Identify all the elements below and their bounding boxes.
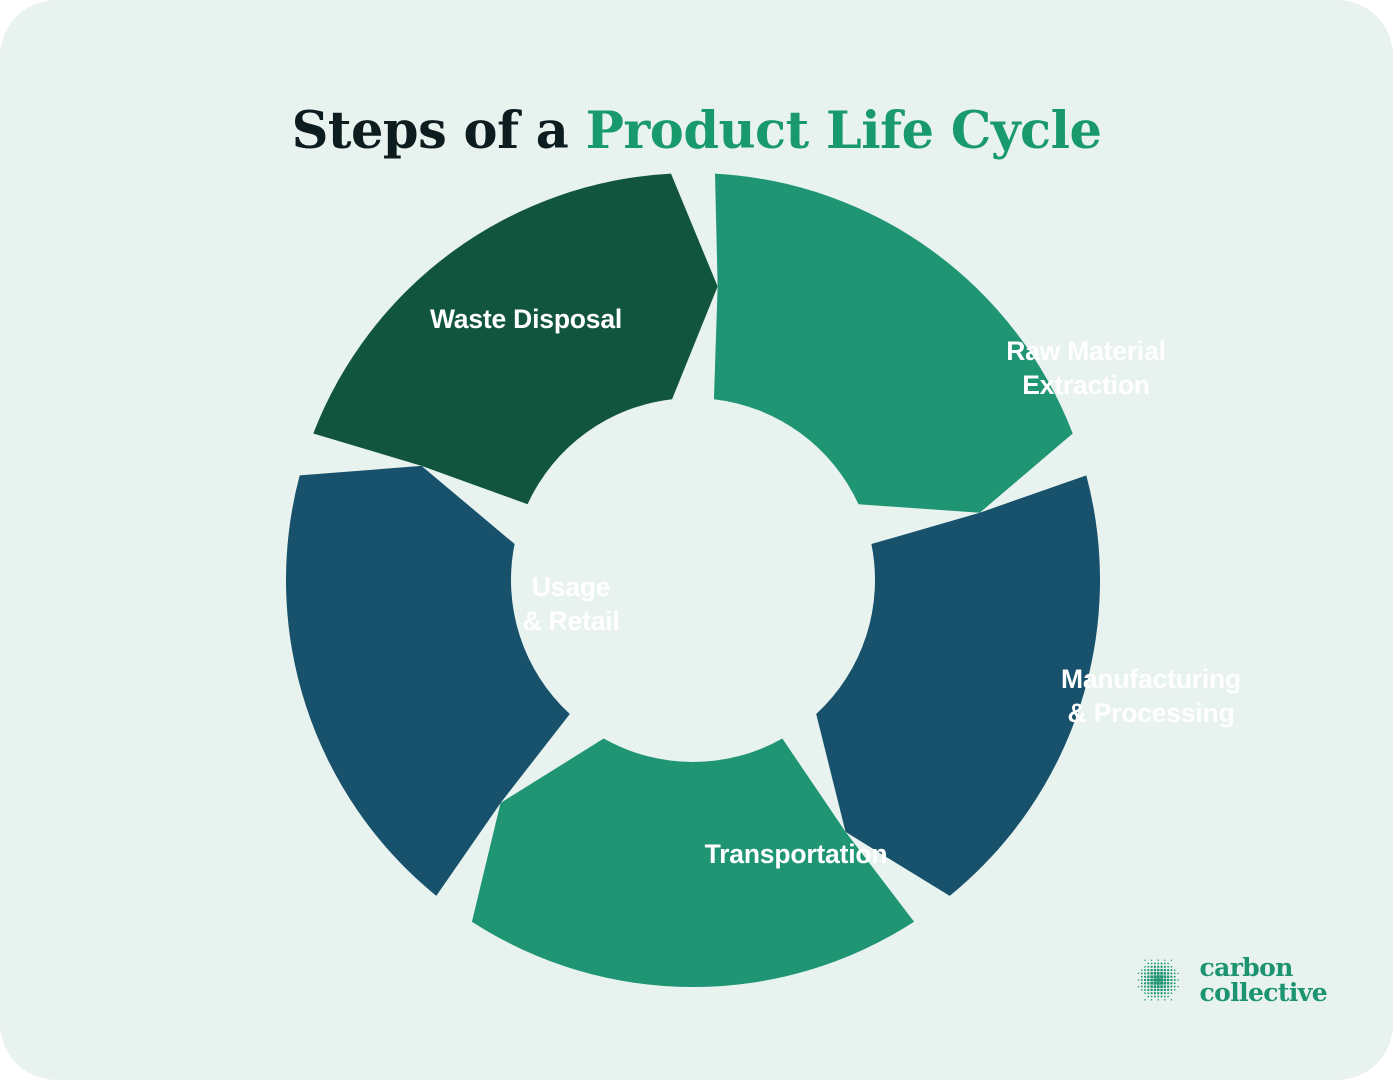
title-part-green: Product Life Cycle xyxy=(586,101,1102,161)
cycle-svg xyxy=(286,173,1100,987)
segment-waste-disposal[interactable] xyxy=(313,174,717,505)
carbon-collective-logo[interactable]: carboncollective xyxy=(1131,941,1327,1019)
logo-wordmark: carboncollective xyxy=(1200,955,1328,1006)
product-life-cycle-diagram: Raw Material Extraction Manufacturing & … xyxy=(286,173,1100,987)
logo-line-2: collective xyxy=(1200,978,1328,1007)
infographic-canvas: Steps of a Product Life Cycle Raw Materi… xyxy=(0,0,1393,1080)
dot-cluster-icon xyxy=(1131,942,1186,1018)
segment-manufacturing-processing[interactable] xyxy=(816,475,1100,895)
segment-raw-material-extraction[interactable] xyxy=(714,174,1073,513)
title-part-dark: Steps of a xyxy=(292,101,586,161)
page-title: Steps of a Product Life Cycle xyxy=(0,102,1393,161)
